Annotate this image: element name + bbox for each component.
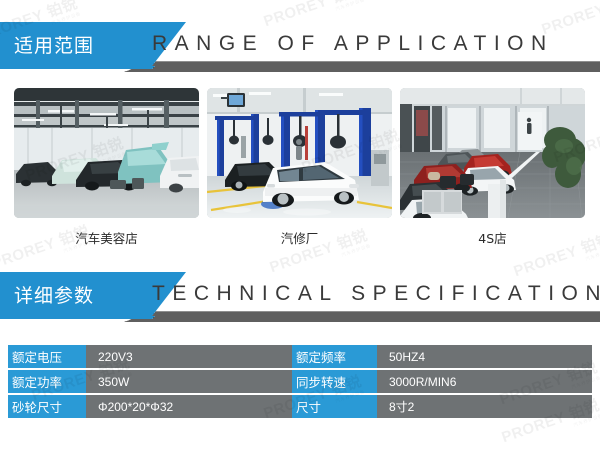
- spec-label-rated-frequency: 额定频率: [292, 345, 377, 368]
- spec-label-rated-power: 额定功率: [8, 370, 86, 393]
- section-tab-label-spec: 详细参数: [14, 281, 94, 308]
- photo-auto-repair-factory-image: [207, 88, 392, 218]
- section-tab-underline-wedge-2: [152, 316, 155, 319]
- spec-label-rated-voltage: 额定电压: [8, 345, 86, 368]
- watermark-brand-cn: 铂锐: [329, 0, 364, 7]
- section-tab-spec: 详细参数: [0, 272, 152, 316]
- spec-value-rated-frequency: 50HZ4: [377, 345, 592, 368]
- photo-four-s-dealership: [400, 88, 585, 218]
- section-tab-label-range: 适用范围: [14, 31, 94, 58]
- product-detail-page: 适用范围 RANGE OF APPLICATION: [0, 0, 600, 452]
- halftone-hatch-band-2: [124, 312, 600, 322]
- photo-auto-beauty-shop: [14, 88, 199, 218]
- application-caption-row: 汽车美容店 汽修厂 4S店: [14, 228, 586, 247]
- section-tab-underline-2: [0, 316, 152, 319]
- table-row: 砂轮尺寸 Φ200*20*Φ32 尺寸 8寸2: [8, 395, 592, 418]
- table-row: 额定功率 350W 同步转速 3000R/MIN6: [8, 370, 592, 393]
- section-tab-range: 适用范围: [0, 22, 152, 66]
- specification-table: 额定电压 220V3 额定频率 50HZ4 额定功率 350W 同步转速 300…: [8, 345, 592, 418]
- spec-value-rated-power: 350W: [86, 370, 292, 393]
- spec-value-sync-speed: 3000R/MIN6: [377, 370, 592, 393]
- halftone-hatch-band-1: [124, 62, 600, 72]
- spec-label-sync-speed: 同步转速: [292, 370, 377, 393]
- caption-auto-beauty-shop: 汽车美容店: [14, 228, 199, 247]
- spec-value-dimensions: 8寸2: [377, 395, 592, 418]
- section-header-range-of-application: 适用范围 RANGE OF APPLICATION: [0, 22, 600, 72]
- spec-value-rated-voltage: 220V3: [86, 345, 292, 368]
- section-header-technical-specification: 详细参数 TECHNICAL SPECIFICATION: [0, 272, 600, 322]
- caption-four-s-dealership: 4S店: [400, 228, 585, 247]
- watermark-sub: 汽车养护设备: [505, 413, 600, 452]
- section-title-spec-english: TECHNICAL SPECIFICATION: [152, 276, 600, 312]
- application-photo-row: [14, 88, 586, 218]
- photo-auto-repair-factory: [207, 88, 392, 218]
- photo-auto-beauty-shop-image: [14, 88, 199, 218]
- table-row: 额定电压 220V3 额定频率 50HZ4: [8, 345, 592, 368]
- spec-value-wheel-size: Φ200*20*Φ32: [86, 395, 292, 418]
- section-tab-underline-1: [0, 66, 152, 69]
- watermark-brand-cn: 铂锐: [45, 0, 80, 21]
- section-tab-underline-wedge-1: [152, 66, 155, 69]
- section-title-range-english: RANGE OF APPLICATION: [152, 26, 554, 62]
- photo-four-s-dealership-image: [400, 88, 585, 218]
- spec-label-dimensions: 尺寸: [292, 395, 377, 418]
- spec-label-wheel-size: 砂轮尺寸: [8, 395, 86, 418]
- caption-auto-repair-factory: 汽修厂: [207, 228, 392, 247]
